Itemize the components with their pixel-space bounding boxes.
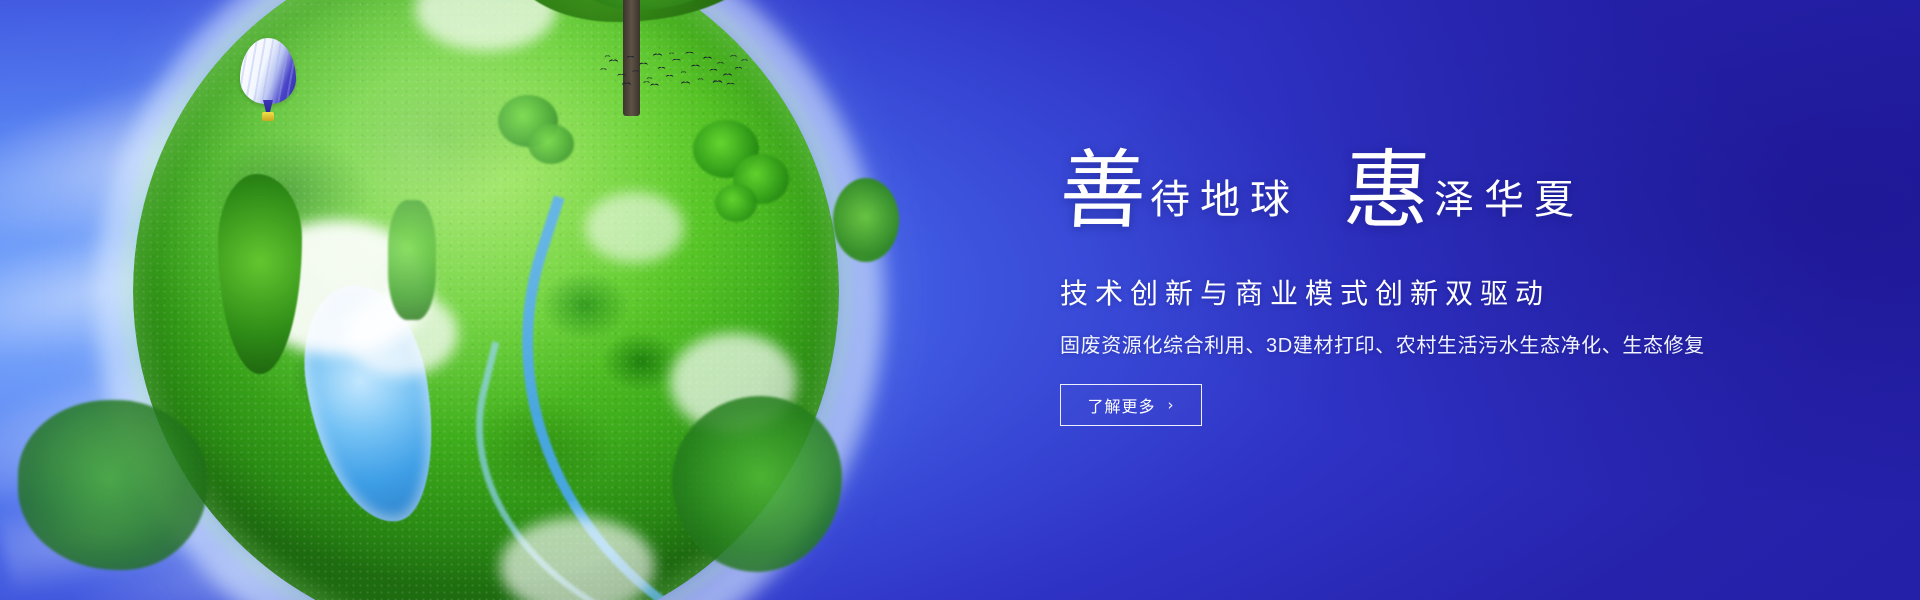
tree-icon [672,396,842,596]
bird-icon [627,56,634,60]
hot-air-balloon-icon [240,38,296,126]
headline-char-2: 惠 [1342,148,1433,234]
hero-copy: 善待地球惠泽华夏 技术创新与商业模式创新双驱动 固废资源化综合利用、3D建材打印… [1060,148,1780,426]
bird-icon [723,73,732,78]
bird-icon [639,63,647,68]
tree-crown [672,396,842,572]
bird-icon [650,84,658,89]
tree-crown [218,174,302,374]
tree-icon [18,400,208,600]
chevron-right-icon: › [1168,398,1175,413]
tree-icon [218,174,302,384]
hero-subtitle: 技术创新与商业模式创新双驱动 [1060,272,1780,312]
hero-description: 固废资源化综合利用、3D建材打印、农村生活污水生态净化、生态修复 [1060,329,1780,358]
bird-icon [653,53,662,58]
bird-icon [673,59,681,64]
tree-crown [833,178,899,262]
page-title: 善待地球惠泽华夏 [1060,148,1780,258]
bird-icon [666,75,673,79]
hero-banner: 善待地球惠泽华夏 技术创新与商业模式创新双驱动 固废资源化综合利用、3D建材打印… [0,0,1920,600]
bird-icon [681,71,686,74]
bird-icon [730,55,736,59]
bird-icon [601,68,607,71]
balloon-basket [262,112,274,121]
bird-icon [735,67,742,71]
bird-icon [681,81,690,86]
bird-icon [742,59,748,62]
bird-icon [727,83,735,88]
bird-icon [710,69,717,73]
headline-char-1: 善 [1058,148,1149,234]
bird-icon [658,67,665,71]
balloon-neck [263,100,273,112]
learn-more-button[interactable]: 了解更多 › [1060,384,1202,426]
bird-icon [691,65,699,70]
learn-more-label: 了解更多 [1087,393,1155,417]
tree-icon [833,178,899,268]
balloon-envelope [240,38,296,104]
bird-icon [605,55,610,58]
tree-icon [511,0,761,52]
headline-phrase-1: 待地球 [1150,180,1300,220]
bird-icon [609,59,618,64]
bird-icon [669,53,674,56]
tree-crown [18,400,208,570]
bird-icon [644,81,650,84]
bird-icon [622,82,631,87]
bird-icon [686,52,694,57]
headline-phrase-2: 泽华夏 [1434,180,1584,220]
bird-icon [713,80,722,85]
bird-icon [633,70,639,73]
bird-icon [647,77,652,80]
bird-icon [717,62,723,66]
bird-icon [698,78,703,81]
bird-flock-icon [596,50,746,92]
bird-icon [618,74,626,79]
bird-icon [703,57,711,62]
